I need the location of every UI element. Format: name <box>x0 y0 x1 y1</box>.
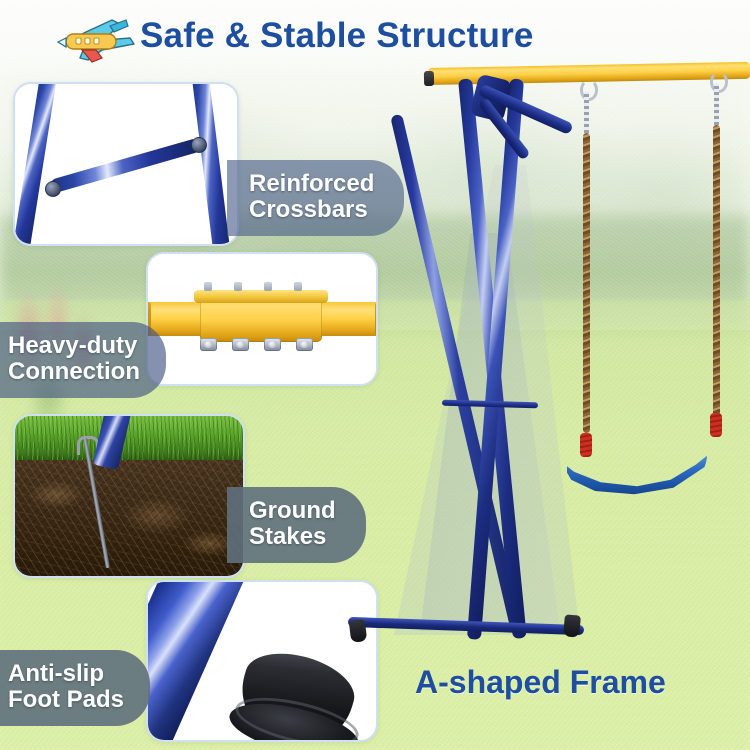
callout-line-2: Connection <box>8 359 140 385</box>
callout-line-2: Stakes <box>249 524 336 550</box>
crossbar-bolt-left <box>45 181 61 197</box>
bolt-stud-2 <box>234 282 242 291</box>
swing-hook-right <box>710 71 728 93</box>
infographic-canvas: Safe & Stable Structure <box>0 0 750 750</box>
blue-leg-left <box>13 82 58 246</box>
callout-heavy-duty-connection: Heavy-duty Connection <box>0 322 166 398</box>
swing-seat <box>567 455 707 495</box>
tube-cap-right <box>375 302 378 336</box>
foot-pad-right <box>563 614 581 637</box>
swing-rope-right <box>713 125 720 417</box>
crossbar-bolt-right <box>191 137 207 153</box>
connector-detail-photo <box>146 252 378 386</box>
callout-anti-slip-foot-pads: Anti-slip Foot Pads <box>0 650 150 726</box>
beam-end-cap <box>424 71 434 86</box>
bolt-nut-1 <box>200 338 217 351</box>
crossbar-detail-photo <box>13 82 239 246</box>
rope-wrap-right <box>710 413 722 437</box>
bolt-nut-2 <box>232 338 249 351</box>
bolt-stud-3 <box>264 282 272 291</box>
swing-rope-left <box>583 133 590 433</box>
swing-chain-left <box>584 91 589 135</box>
ground-stake-detail-photo <box>13 414 245 578</box>
bolt-stud-4 <box>294 282 302 291</box>
foot-pad-left <box>349 619 368 643</box>
swing-hook-left <box>580 79 598 101</box>
soil-layer <box>15 460 243 576</box>
foot-pad-detail-photo <box>146 580 378 742</box>
callout-line-1: Heavy-duty <box>8 333 140 359</box>
swing-chain-right <box>714 83 719 127</box>
bolt-nut-4 <box>296 338 313 351</box>
swing-set-photo <box>392 55 750 680</box>
grass-layer <box>15 416 243 460</box>
main-photo-caption: A-shaped Frame <box>415 664 666 701</box>
callout-line-1: Ground <box>249 498 336 524</box>
connector-collar <box>194 290 328 303</box>
rope-wrap-left <box>580 433 592 457</box>
callout-line-2: Foot Pads <box>8 687 124 713</box>
crossbar <box>49 138 202 194</box>
callout-reinforced-crossbars: Reinforced Crossbars <box>227 160 404 236</box>
callout-line-1: Reinforced <box>249 171 374 197</box>
airplane-icon <box>52 14 138 66</box>
page-title: Safe & Stable Structure <box>140 16 740 56</box>
callout-ground-stakes: Ground Stakes <box>227 487 366 563</box>
bolt-stud-1 <box>204 282 212 291</box>
bolt-nut-3 <box>264 338 281 351</box>
callout-line-2: Crossbars <box>249 197 374 223</box>
callout-line-1: Anti-slip <box>8 661 124 687</box>
